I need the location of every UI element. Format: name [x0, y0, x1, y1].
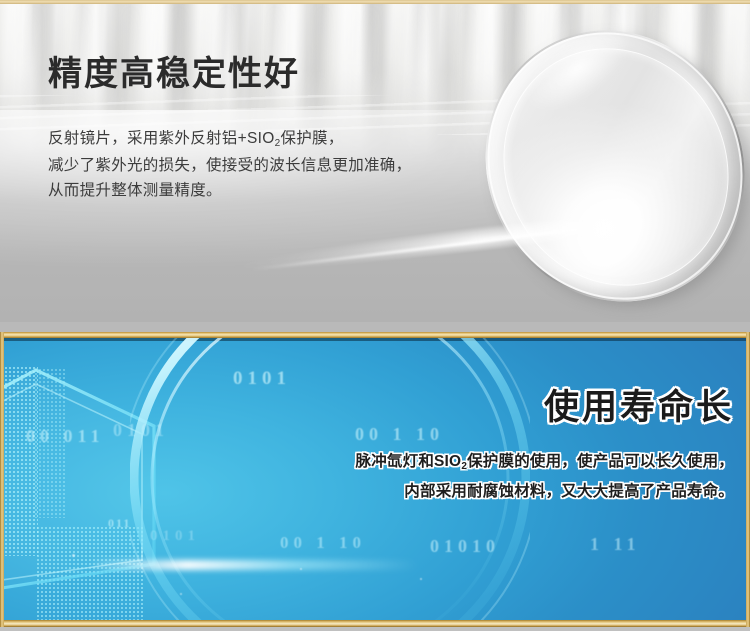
- bottom-desc-line-2: 内部采用耐腐蚀材料，又大大提高了产品寿命。: [214, 478, 734, 506]
- top-desc-line-3: 从而提升整体测量精度。: [48, 178, 518, 203]
- bottom-panel-description: 脉冲氙灯和SIO2保护膜的使用，使产品可以长久使用， 内部采用耐腐蚀材料，又大大…: [214, 448, 734, 506]
- top-desc-line-1-post: 保护膜，: [280, 130, 343, 147]
- binary-decor-g: 00 1 10: [280, 533, 366, 553]
- product-feature-page: 精度高稳定性好 反射镜片，采用紫外反射铝+SIO2保护膜， 减少了紫外光的损失，…: [0, 0, 750, 631]
- binary-decor-h: 01010: [430, 536, 500, 557]
- top-desc-line-2: 减少了紫外光的损失，使接受的波长信息更加准确，: [48, 153, 518, 178]
- page-bottom-gap: [0, 627, 750, 631]
- top-gold-divider: [0, 0, 750, 4]
- bottom-desc-line-1-post: 保护膜的使用，使产品可以长久使用，: [467, 453, 734, 470]
- panel-gap: [0, 322, 750, 332]
- gold-right-border: [746, 332, 750, 627]
- binary-decor-e: 011: [108, 516, 131, 531]
- bottom-feature-panel: 00 011 0101 0101 00 1 10 011 0101 00 1 1…: [0, 338, 750, 620]
- binary-decor-i: 1 11: [590, 534, 641, 555]
- top-panel-description: 反射镜片，采用紫外反射铝+SIO2保护膜， 减少了紫外光的损失，使接受的波长信息…: [48, 126, 518, 203]
- top-feature-panel: 精度高稳定性好 反射镜片，采用紫外反射铝+SIO2保护膜， 减少了紫外光的损失，…: [0, 0, 750, 322]
- gold-bottom-border: [0, 620, 750, 627]
- binary-decor-a: 00 011: [26, 426, 105, 447]
- top-desc-line-1: 反射镜片，采用紫外反射铝+SIO2保护膜，: [48, 126, 518, 153]
- top-desc-line-1-subscript: 2: [275, 138, 281, 149]
- bottom-desc-line-1-pre: 脉冲氙灯和SIO: [356, 453, 462, 470]
- bottom-panel-title: 使用寿命长: [214, 386, 734, 430]
- top-panel-title: 精度高稳定性好: [48, 52, 518, 96]
- gold-top-border: [0, 332, 750, 338]
- binary-decor-c: 0101: [113, 420, 169, 441]
- bottom-desc-line-1: 脉冲氙灯和SIO2保护膜的使用，使产品可以长久使用，: [214, 448, 734, 478]
- bottom-desc-line-1-subscript: 2: [461, 461, 467, 472]
- top-desc-line-1-pre: 反射镜片，采用紫外反射铝+SIO: [48, 130, 275, 147]
- top-panel-content: 精度高稳定性好 反射镜片，采用紫外反射铝+SIO2保护膜， 减少了紫外光的损失，…: [48, 52, 518, 203]
- horizontal-glow-streak: [88, 560, 418, 570]
- bottom-panel-content: 使用寿命长 脉冲氙灯和SIO2保护膜的使用，使产品可以长久使用， 内部采用耐腐蚀…: [214, 386, 734, 506]
- light-speck: [180, 593, 182, 595]
- gold-left-border: [0, 332, 4, 627]
- binary-decor-f: 0101: [150, 528, 200, 545]
- light-speck: [420, 578, 422, 580]
- light-speck: [300, 568, 302, 570]
- light-speck: [72, 554, 75, 557]
